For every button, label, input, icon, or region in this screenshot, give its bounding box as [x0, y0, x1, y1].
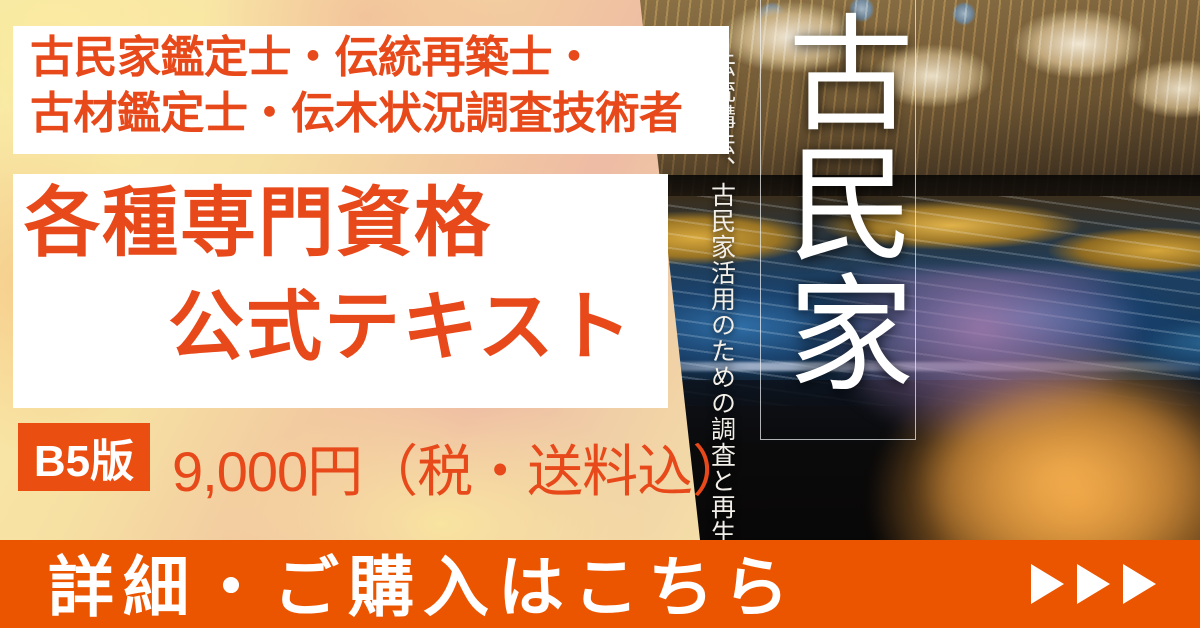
- book-cover-title: 古民家: [770, 8, 910, 398]
- cta-bar[interactable]: 詳細・ご購入はこちら: [0, 540, 1200, 628]
- triangle-right-icon: [1077, 564, 1110, 604]
- qualifications-kicker-text: 古民家鑑定士・伝統再築士・ 古材鑑定士・伝木状況調査技術者: [30, 30, 720, 142]
- headline-line-2: 公式テキスト: [168, 290, 634, 366]
- promo-banner: 古民家 伝統構法、古民家活用のための調査と再生の 古民家鑑定士・伝統再築士・ 古…: [0, 0, 1200, 628]
- triangle-right-icon: [1031, 564, 1064, 604]
- triangle-right-icon: [1123, 564, 1156, 604]
- cta-arrow-group: [1031, 564, 1156, 604]
- headline-line-1: 各種専門資格: [24, 186, 492, 262]
- price-text: 9,000円（税・送料込）: [172, 427, 747, 508]
- warm-glow-secondary: [890, 340, 1200, 540]
- cta-label: 詳細・ご購入はこちら: [48, 534, 798, 628]
- format-badge-b5: B5版: [18, 423, 150, 491]
